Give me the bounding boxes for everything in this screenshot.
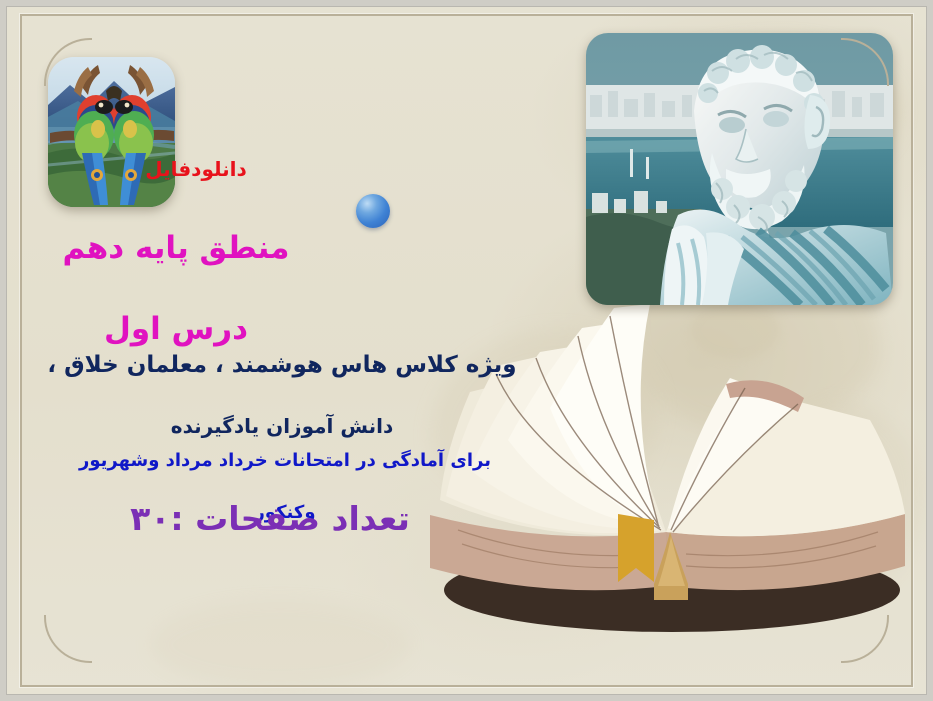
blue-sphere-bullet-icon bbox=[356, 194, 390, 228]
slide-canvas: دانلودفایل منطق پایه دهم درس اول ویژه کل… bbox=[0, 0, 933, 701]
audience-line-1: ویژه کلاس هاس هوشمند ، معلمان خلاق ، bbox=[47, 352, 516, 378]
parrot-image[interactable] bbox=[48, 57, 175, 207]
aristotle-statue-image[interactable] bbox=[586, 33, 893, 305]
title-line-1: منطق پایه دهم bbox=[62, 230, 289, 266]
download-label[interactable]: دانلودفایل bbox=[0, 158, 392, 181]
page-count-label: تعداد صفحات :۳۰ bbox=[80, 500, 460, 538]
exam-line-1: برای آمادگی در امتحانات خرداد مرداد وشهر… bbox=[79, 450, 491, 471]
